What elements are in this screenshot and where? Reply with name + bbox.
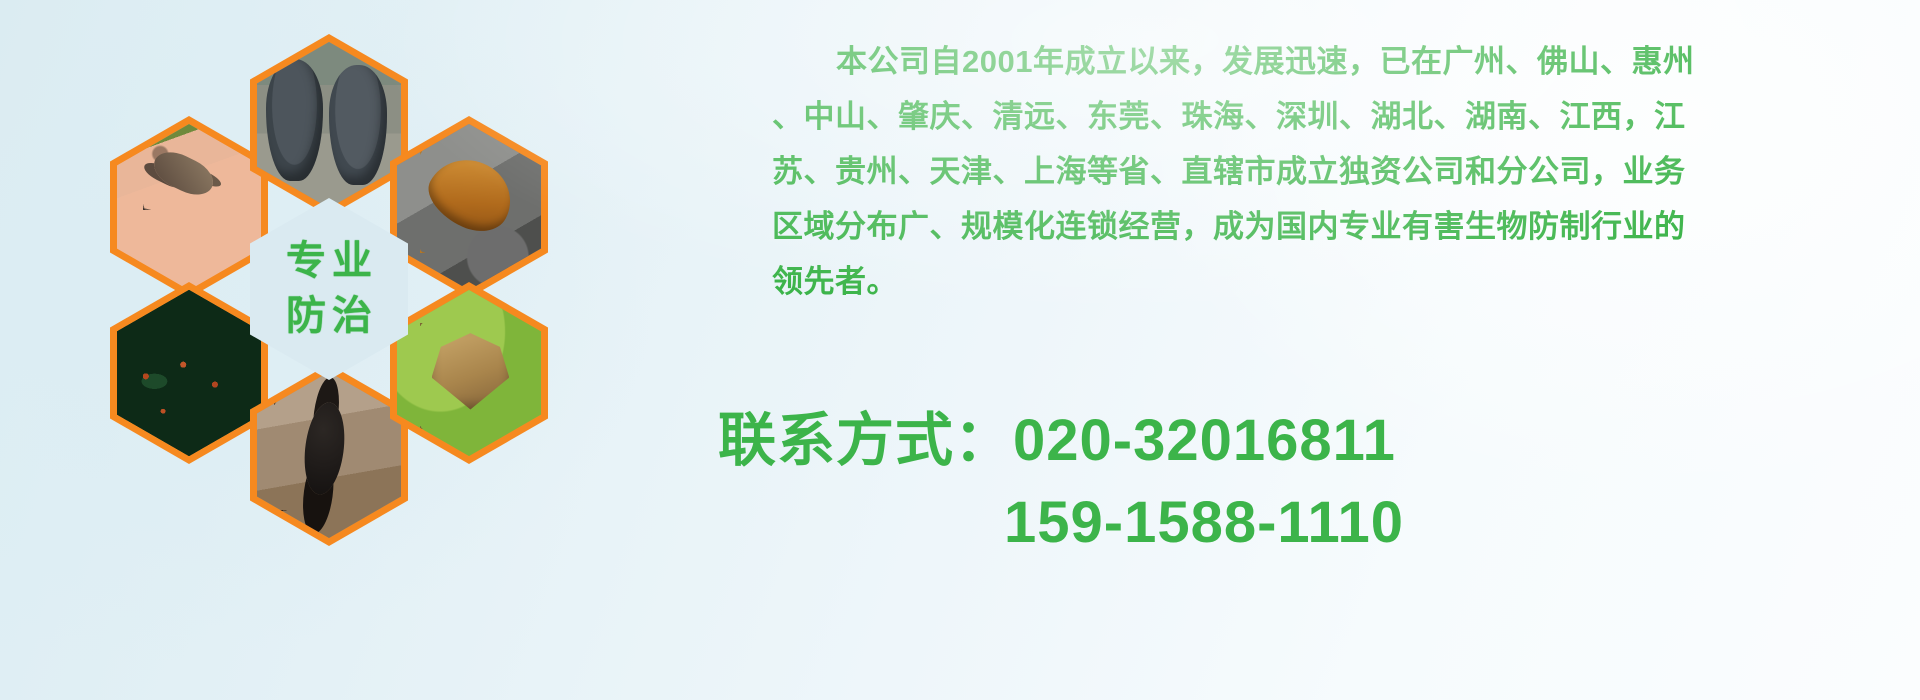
hex-photo-frame bbox=[397, 290, 541, 456]
contact-line-primary[interactable]: 联系方式：020-32016811 bbox=[718, 400, 1404, 482]
badge-line-1: 专业 bbox=[280, 234, 378, 289]
stinkbug-photo bbox=[397, 290, 541, 456]
mosquito-photo bbox=[117, 124, 261, 290]
hex-cell-ants[interactable] bbox=[250, 364, 408, 546]
hex-cell-stinkbug[interactable] bbox=[390, 282, 548, 464]
rats-photo bbox=[257, 42, 401, 208]
hex-cell-rats[interactable] bbox=[250, 34, 408, 216]
hex-photo-frame bbox=[257, 372, 401, 538]
honeycomb-cluster: 专业 防治 bbox=[90, 0, 590, 575]
intro-line-5: 领先者。 bbox=[772, 254, 1852, 309]
intro-line-2: 、中山、肇庆、清远、东莞、珠海、深圳、湖北、湖南、江西，江 bbox=[772, 89, 1852, 144]
badge-line-2: 防治 bbox=[280, 289, 378, 344]
intro-paragraph: 本公司自2001年成立以来，发展迅速，已在广州、佛山、惠州 、中山、肇庆、清远、… bbox=[772, 34, 1852, 309]
ants-photo bbox=[257, 372, 401, 538]
hex-cell-cockroach[interactable] bbox=[390, 116, 548, 298]
contact-block: 联系方式：020-32016811 159-1588-1110 bbox=[718, 400, 1404, 564]
intro-line-4: 区域分布广、规模化连锁经营，成为国内专业有害生物防制行业的 bbox=[772, 199, 1852, 254]
intro-line-1: 本公司自2001年成立以来，发展迅速，已在广州、佛山、惠州 bbox=[772, 34, 1852, 89]
hex-photo-frame bbox=[117, 290, 261, 456]
contact-line-secondary[interactable]: 159-1588-1110 bbox=[718, 482, 1404, 564]
hex-photo-frame bbox=[397, 124, 541, 290]
hex-photo-frame bbox=[257, 42, 401, 208]
intro-copy-block: 本公司自2001年成立以来，发展迅速，已在广州、佛山、惠州 、中山、肇庆、清远、… bbox=[772, 34, 1852, 309]
hex-cell-flies[interactable] bbox=[110, 282, 268, 464]
cockroach-photo bbox=[397, 124, 541, 290]
hex-photo-frame bbox=[117, 124, 261, 290]
hex-cell-mosquito[interactable] bbox=[110, 116, 268, 298]
flies-photo bbox=[117, 290, 261, 456]
intro-line-3: 苏、贵州、天津、上海等省、直辖市成立独资公司和分公司，业务 bbox=[772, 144, 1852, 199]
hex-cell-brand-badge: 专业 防治 bbox=[250, 198, 408, 380]
banner-canvas: 专业 防治 本公司自2001年成立以来，发展迅速，已在广州、佛山、惠州 、中山、… bbox=[0, 0, 1920, 700]
